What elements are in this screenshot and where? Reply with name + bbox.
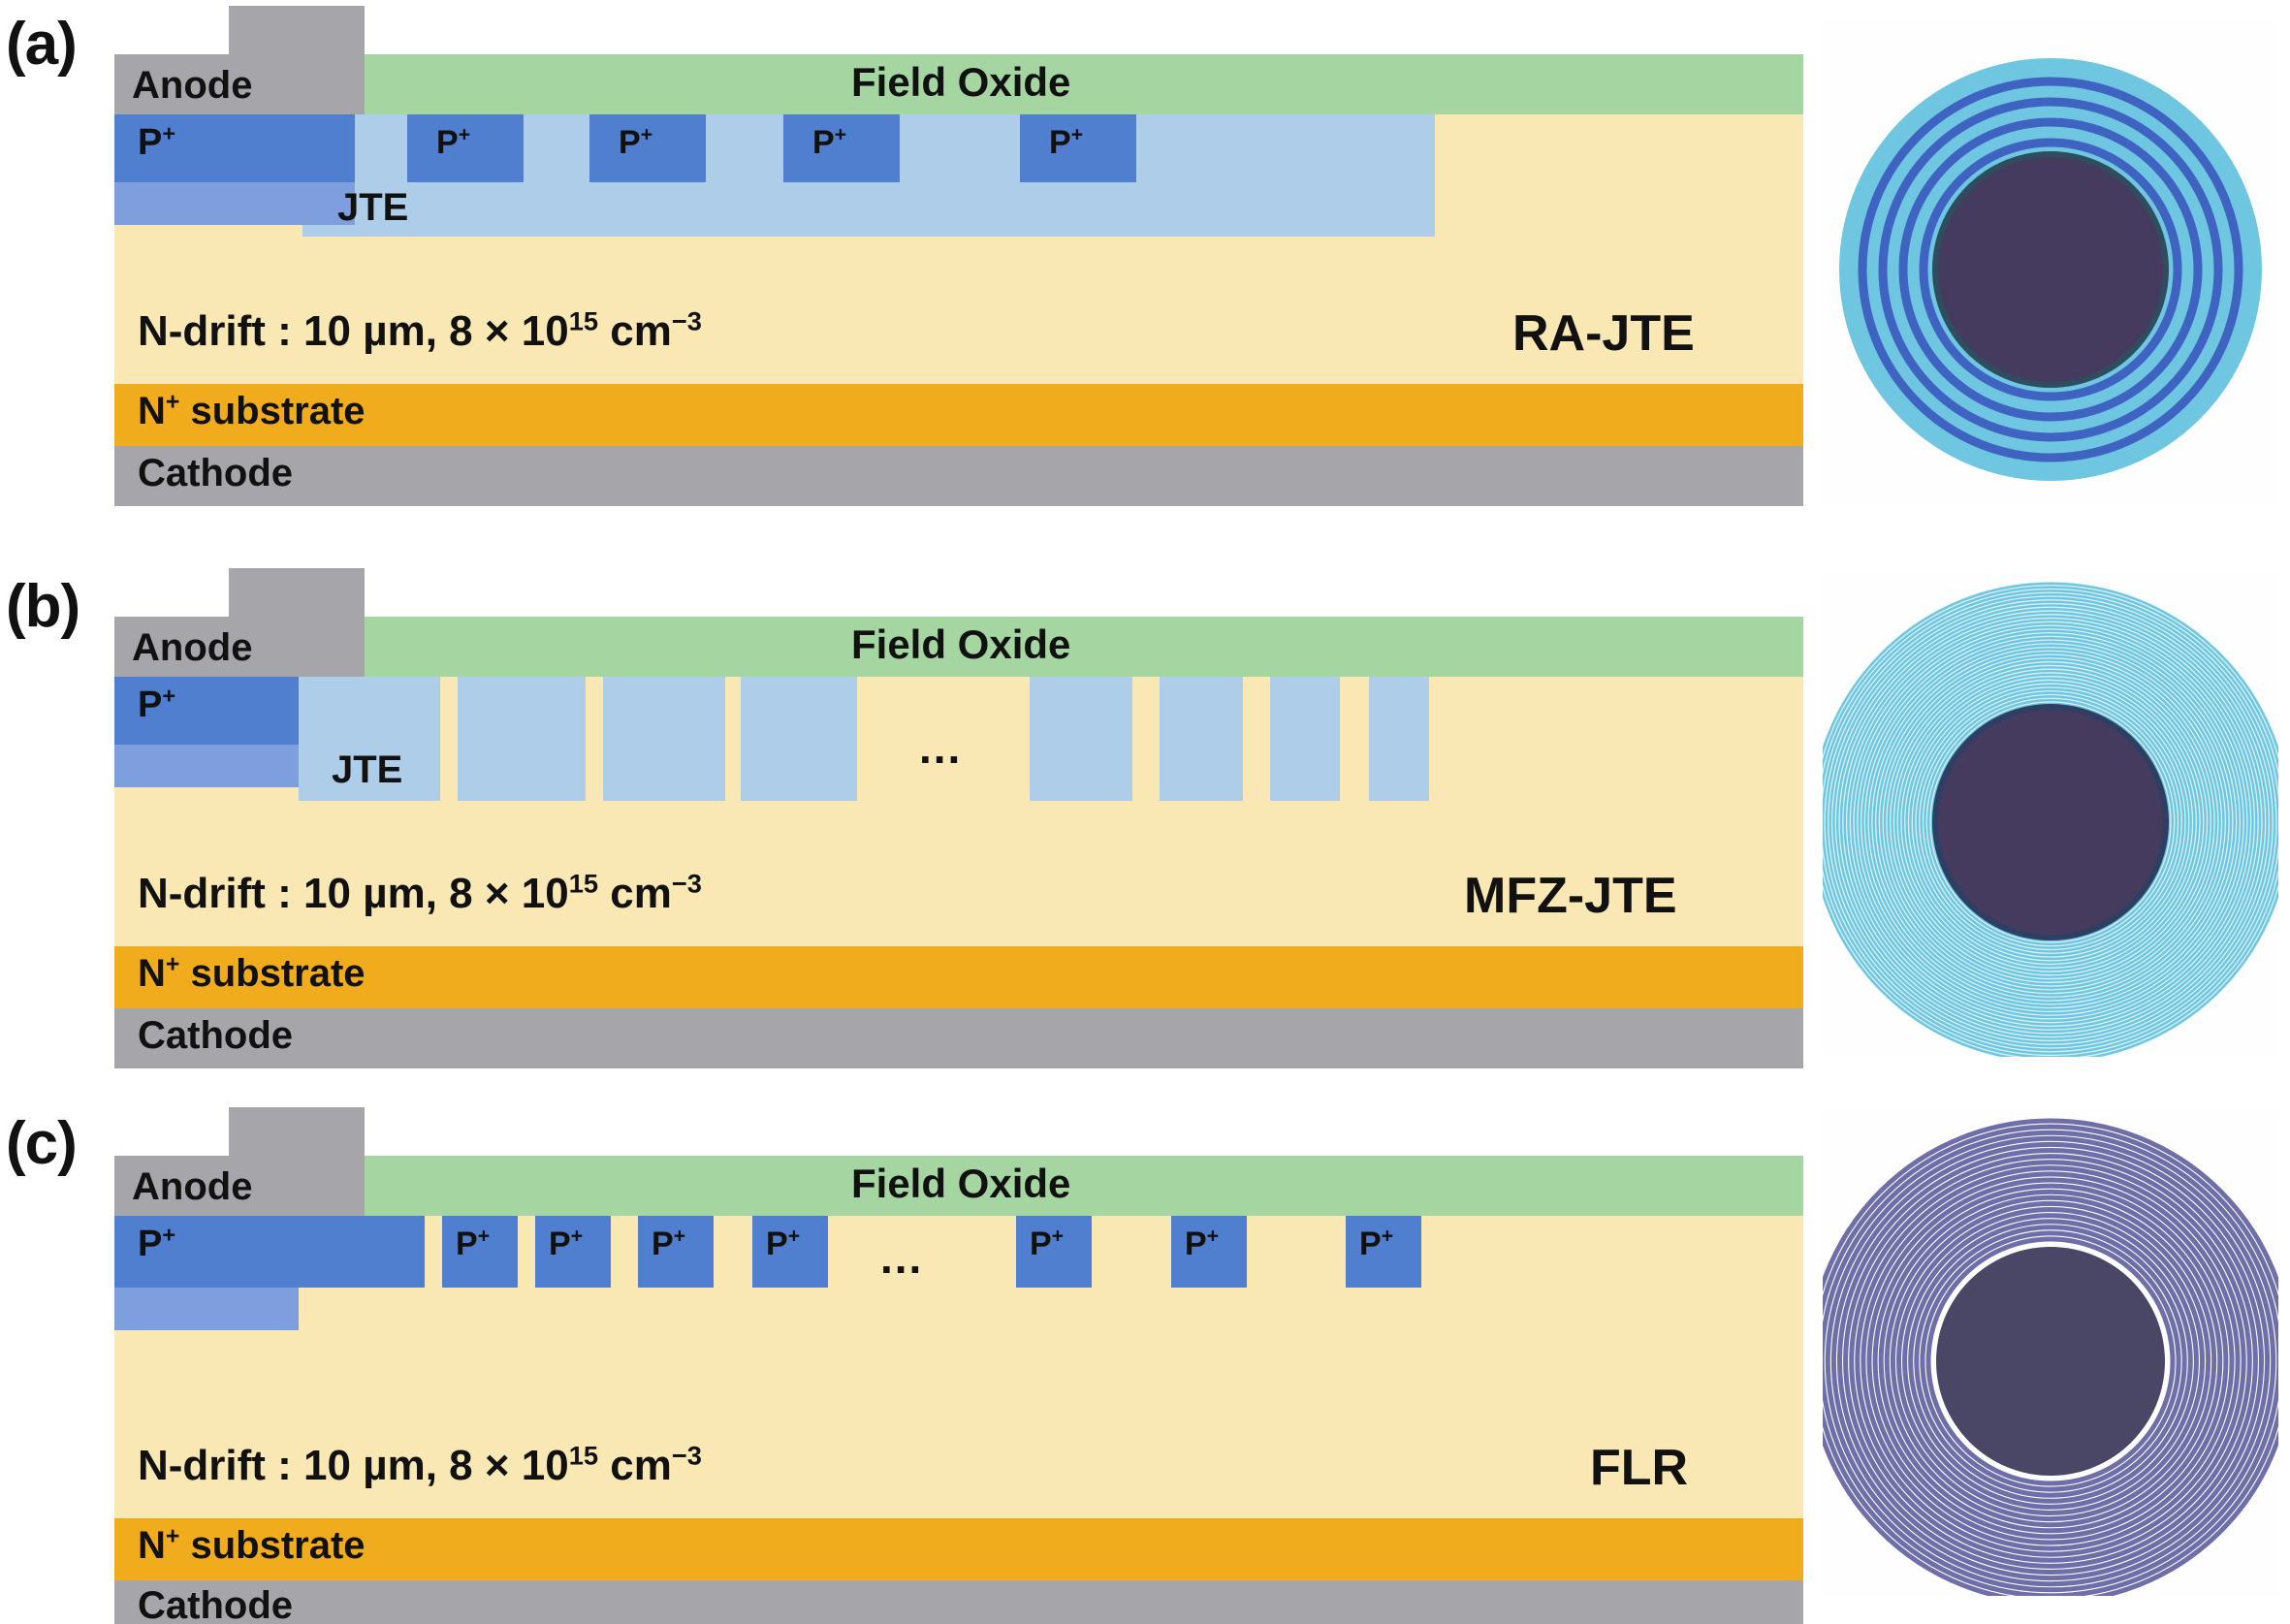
anode-label: Anode [132,66,252,105]
guard-ring-label: P+ [652,1227,685,1260]
jte-finger [1270,677,1340,801]
cathode-layer [114,446,1803,506]
guard-ring-label: P+ [456,1227,490,1260]
anode-metal-pad [229,6,365,54]
guard-ring-label: P+ [1185,1227,1219,1260]
structure-name-label: RA-JTE [1512,308,1695,359]
n-plus-substrate-label: N+ substrate [138,1526,366,1565]
p-plus-label: P+ [138,686,175,723]
anode-metal-pad [229,568,365,617]
cathode-label: Cathode [138,454,293,493]
jte-finger [1369,677,1429,801]
ellipsis-label: ... [919,725,962,770]
p-plus-label: P+ [619,126,652,159]
anode-label: Anode [132,628,252,667]
anode-p-plus-deep [114,745,299,787]
cathode-label: Cathode [138,1016,293,1055]
n-drift-label: N-drift : 10 µm, 8 × 1015 cm−3 [138,1445,702,1487]
n-plus-substrate-layer [114,384,1803,446]
anode-p-plus-deep [114,182,355,225]
field-oxide-label: Field Oxide [851,1163,1070,1204]
cathode-layer [114,1008,1803,1068]
panel-a-ra-jte: (a) Anode [0,0,2290,541]
jte-finger [603,677,725,801]
figure-root: (a) Anode [0,0,2290,1624]
cross-section-b: Anode Field Oxide P+ JTE ... N-drift : 1… [0,562,1813,1067]
jte-label: JTE [332,750,402,789]
jte-finger [1160,677,1243,801]
topview-core [1936,1247,2165,1476]
p-plus-label: P+ [138,1226,175,1262]
n-plus-substrate-layer [114,1518,1803,1580]
panel-c-flr: (c) Anode Field Oxide P+ P+ P+ [0,1082,2290,1624]
cross-section-a: Anode Field Oxide P+ P+ P+ P+ P+ JTE N-d… [0,0,1813,504]
panel-b-mfz-jte: (b) Anode Field Oxide P+ JTE [0,541,2290,1082]
jte-finger [458,677,586,801]
topview-core [1938,157,2163,382]
jte-finger [1030,677,1132,801]
n-plus-substrate-label: N+ substrate [138,954,366,993]
jte-label: JTE [337,188,408,227]
guard-ring-label: P+ [766,1227,800,1260]
field-oxide-label: Field Oxide [851,62,1070,103]
structure-name-label: FLR [1590,1443,1688,1493]
anode-p-plus-deep [114,1288,299,1330]
topview-flr [1823,1111,2278,1596]
n-plus-substrate-label: N+ substrate [138,392,366,430]
jte-finger [741,677,857,801]
ellipsis-label: ... [880,1235,923,1280]
topview-mfz-jte [1823,572,2278,1057]
p-plus-label: P+ [436,126,470,159]
n-plus-substrate-layer [114,946,1803,1008]
anode-metal-pad [229,1107,365,1156]
n-drift-label: N-drift : 10 µm, 8 × 1015 cm−3 [138,873,702,915]
topview-core [1938,710,2163,935]
p-plus-label: P+ [1049,126,1083,159]
cross-section-c: Anode Field Oxide P+ P+ P+ P+ P+ P+ P+ P… [0,1101,1813,1606]
guard-ring-label: P+ [1030,1227,1064,1260]
anode-label: Anode [132,1167,252,1206]
structure-name-label: MFZ-JTE [1464,871,1677,921]
field-oxide-label: Field Oxide [851,624,1070,665]
p-plus-label: P+ [812,126,846,159]
guard-ring-label: P+ [1359,1227,1393,1260]
cathode-label: Cathode [138,1586,293,1624]
n-drift-label: N-drift : 10 µm, 8 × 1015 cm−3 [138,310,702,353]
topview-ra-jte [1823,19,2278,504]
cathode-layer [114,1580,1803,1624]
guard-ring-label: P+ [549,1227,583,1260]
p-plus-label: P+ [138,124,175,161]
